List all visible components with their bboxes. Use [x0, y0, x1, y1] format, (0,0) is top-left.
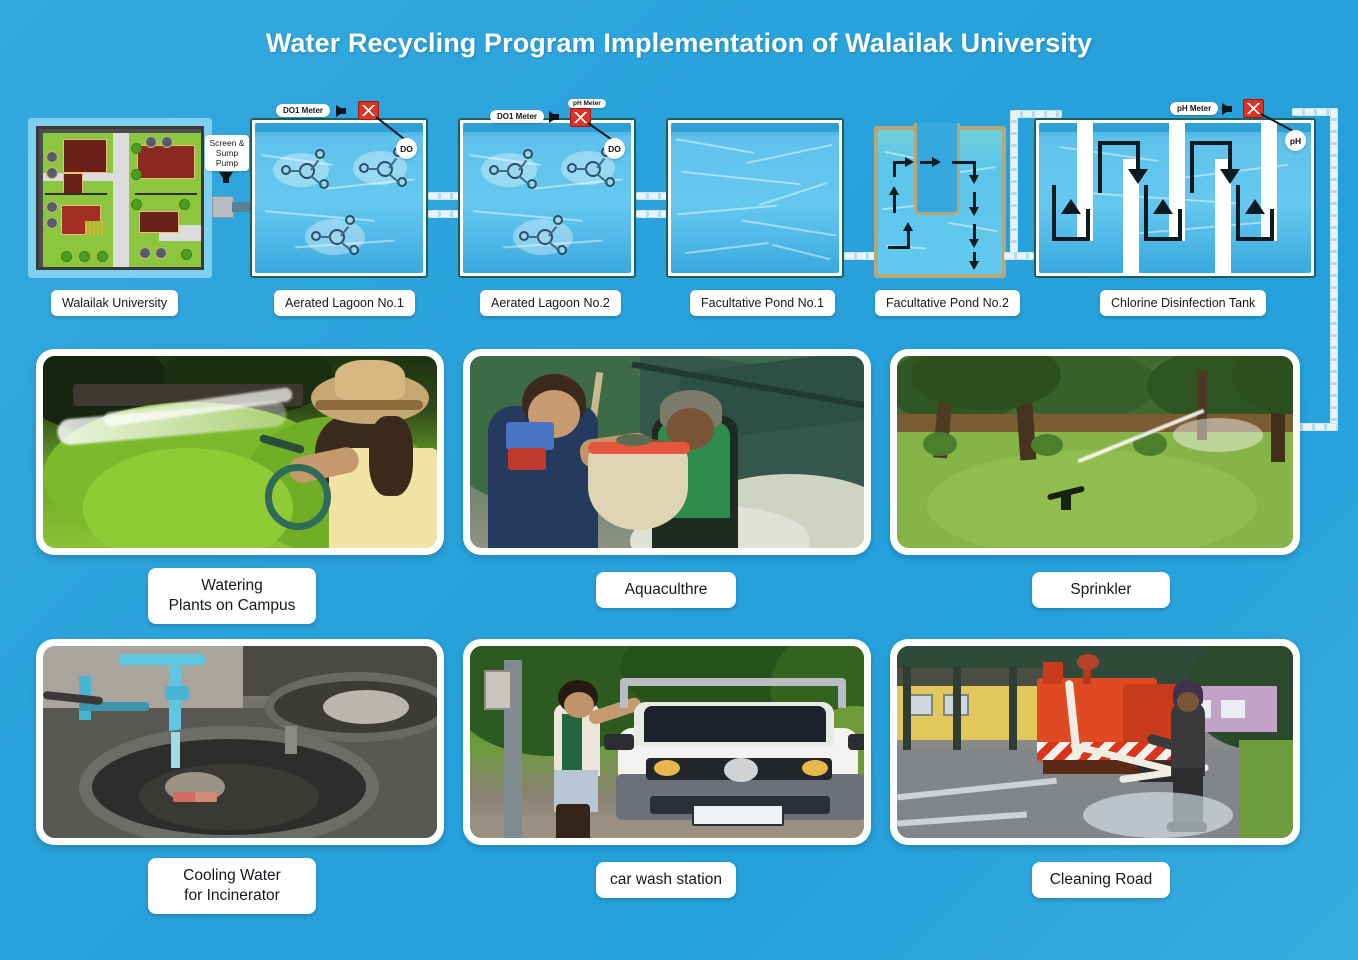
photo-card-cooling-water [36, 639, 444, 845]
photo-card-watering [36, 349, 444, 555]
meter-arrow-icon [549, 111, 558, 123]
photo-card-aquaculture [463, 349, 871, 555]
process-flow-diagram: Screen & Sump Pump [0, 100, 1358, 330]
photo-car-wash-station [470, 646, 864, 838]
pipe-lagoon1-to-lagoon2-upper [428, 192, 460, 200]
label-facultative-pond-2: Facultative Pond No.2 [875, 290, 1020, 316]
caption-aquaculture: Aquaculthre [596, 572, 736, 608]
tank-facultative-pond-1 [666, 118, 844, 278]
do1-meter-chip-lagoon1: DO1 Meter [276, 104, 330, 117]
photo-sprinkler [897, 356, 1293, 548]
meter-arrow-icon [1222, 103, 1231, 115]
do-badge-lagoon1: DO [396, 138, 417, 159]
caption-cleaning-road: Cleaning Road [1032, 862, 1170, 898]
baffle-wall [1169, 123, 1185, 241]
campus-map-illustration [28, 118, 212, 278]
photo-card-cleaning-road [890, 639, 1300, 845]
page-title: Water Recycling Program Implementation o… [0, 28, 1358, 59]
ph-meter-chip-lagoon2: pH Meter [568, 99, 606, 108]
pipe-pond1-to-pond2 [844, 252, 876, 260]
label-walailak-university: Walailak University [51, 290, 178, 316]
photo-cleaning-road [897, 646, 1293, 838]
label-aerated-lagoon-1: Aerated Lagoon No.1 [274, 290, 415, 316]
down-arrow-icon [219, 172, 233, 183]
pump-label-line3: Pump [216, 158, 238, 168]
pump-label-line2: Sump [216, 148, 238, 158]
label-facultative-pond-1: Facultative Pond No.1 [690, 290, 835, 316]
label-chlorine-disinfection: Chlorine Disinfection Tank [1100, 290, 1266, 316]
pipe-lagoon2-to-pond1-lower [636, 210, 668, 218]
photo-watering-plants [43, 356, 437, 548]
pipe-pond2-riser [1010, 110, 1018, 258]
do-badge-lagoon2: DO [604, 138, 625, 159]
baffle-wall [1261, 123, 1277, 241]
photo-card-car-wash [463, 639, 871, 845]
caption-watering: Watering Plants on Campus [148, 568, 316, 624]
ph-meter-chip-chlorine: pH Meter [1170, 102, 1218, 115]
do1-meter-chip-lagoon2: DO1 Meter [490, 110, 544, 123]
caption-sprinkler: Sprinkler [1032, 572, 1170, 608]
screen-sump-pump-label: Screen & Sump Pump [205, 135, 249, 171]
photo-card-sprinkler [890, 349, 1300, 555]
photo-aquaculture [470, 356, 864, 548]
ph-badge-chlorine: pH [1285, 130, 1306, 151]
pipe-lagoon1-to-lagoon2-lower [428, 210, 460, 218]
label-aerated-lagoon-2: Aerated Lagoon No.2 [480, 290, 621, 316]
meter-arrow-icon [336, 105, 345, 117]
tank-chlorine-disinfection [1034, 118, 1316, 278]
pump-label-line1: Screen & [210, 138, 245, 148]
photo-cooling-water [43, 646, 437, 838]
pipe-pond2-outlet [1004, 252, 1034, 260]
caption-cooling-water: Cooling Water for Incinerator [148, 858, 316, 914]
pipe-return-riser [1330, 108, 1338, 430]
tank-facultative-pond-2 [874, 126, 1006, 278]
caption-car-wash: car wash station [596, 862, 736, 898]
pump-box-icon [212, 196, 234, 218]
baffle-wall [1077, 123, 1093, 241]
pipe-lagoon2-to-pond1-upper [636, 192, 668, 200]
